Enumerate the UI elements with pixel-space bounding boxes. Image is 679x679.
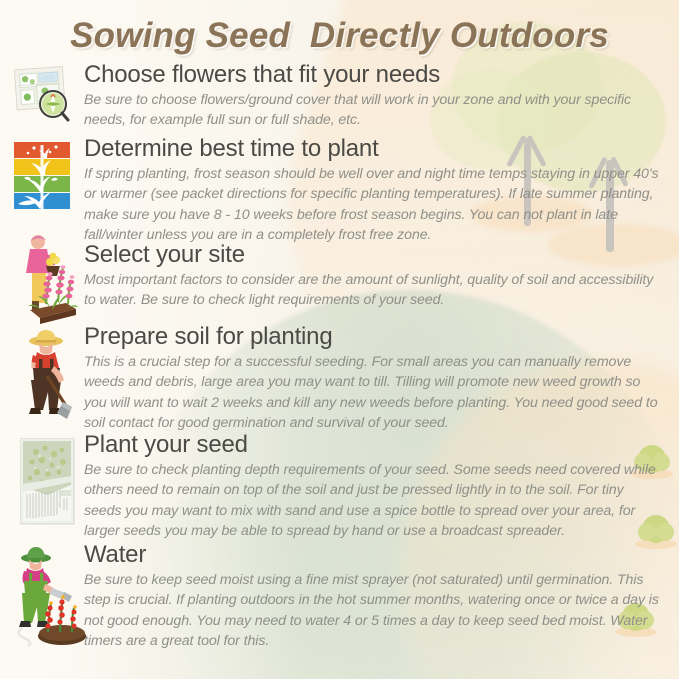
step-body: This is a crucial step for a successful … — [84, 352, 663, 434]
step-title: Plant your seed — [84, 432, 663, 459]
step-item: Determine best time to plant If spring p… — [0, 136, 679, 240]
gardener-with-shovel-icon — [20, 328, 78, 429]
step-item: Select your site Most important factors … — [0, 242, 679, 322]
gardener-watering-icon — [12, 544, 88, 653]
step-body: Be sure to check planting depth requirem… — [84, 460, 663, 542]
step-title: Prepare soil for planting — [84, 324, 663, 351]
step-title: Choose flowers that fit your needs — [84, 62, 663, 89]
gardener-with-potted-flowers-icon — [16, 230, 78, 333]
step-body: Most important factors to consider are t… — [84, 270, 663, 311]
steps-list: Choose flowers that fit your needs Be su… — [0, 62, 679, 654]
step-title: Water — [84, 542, 663, 569]
step-body: Be sure to choose flowers/ground cover t… — [84, 90, 663, 131]
step-title: Select your site — [84, 242, 663, 269]
garden-plan-map-icon — [12, 64, 74, 129]
step-item: Plant your seed Be sure to check plantin… — [0, 432, 679, 538]
four-seasons-icon — [14, 142, 72, 217]
step-body: Be sure to keep seed moist using a fine … — [84, 570, 663, 652]
page-title: Sowing Seed Directly Outdoors — [0, 16, 679, 56]
step-item: Choose flowers that fit your needs Be su… — [0, 62, 679, 134]
step-item: Water Be sure to keep seed moist using a… — [0, 542, 679, 652]
seed-packet-icon — [20, 438, 76, 531]
step-body: If spring planting, frost season should … — [84, 164, 663, 246]
step-item: Prepare soil for planting This is a cruc… — [0, 324, 679, 430]
infographic-poster: Sowing Seed Directly Outdoors — [0, 0, 679, 679]
step-title: Determine best time to plant — [84, 136, 663, 163]
